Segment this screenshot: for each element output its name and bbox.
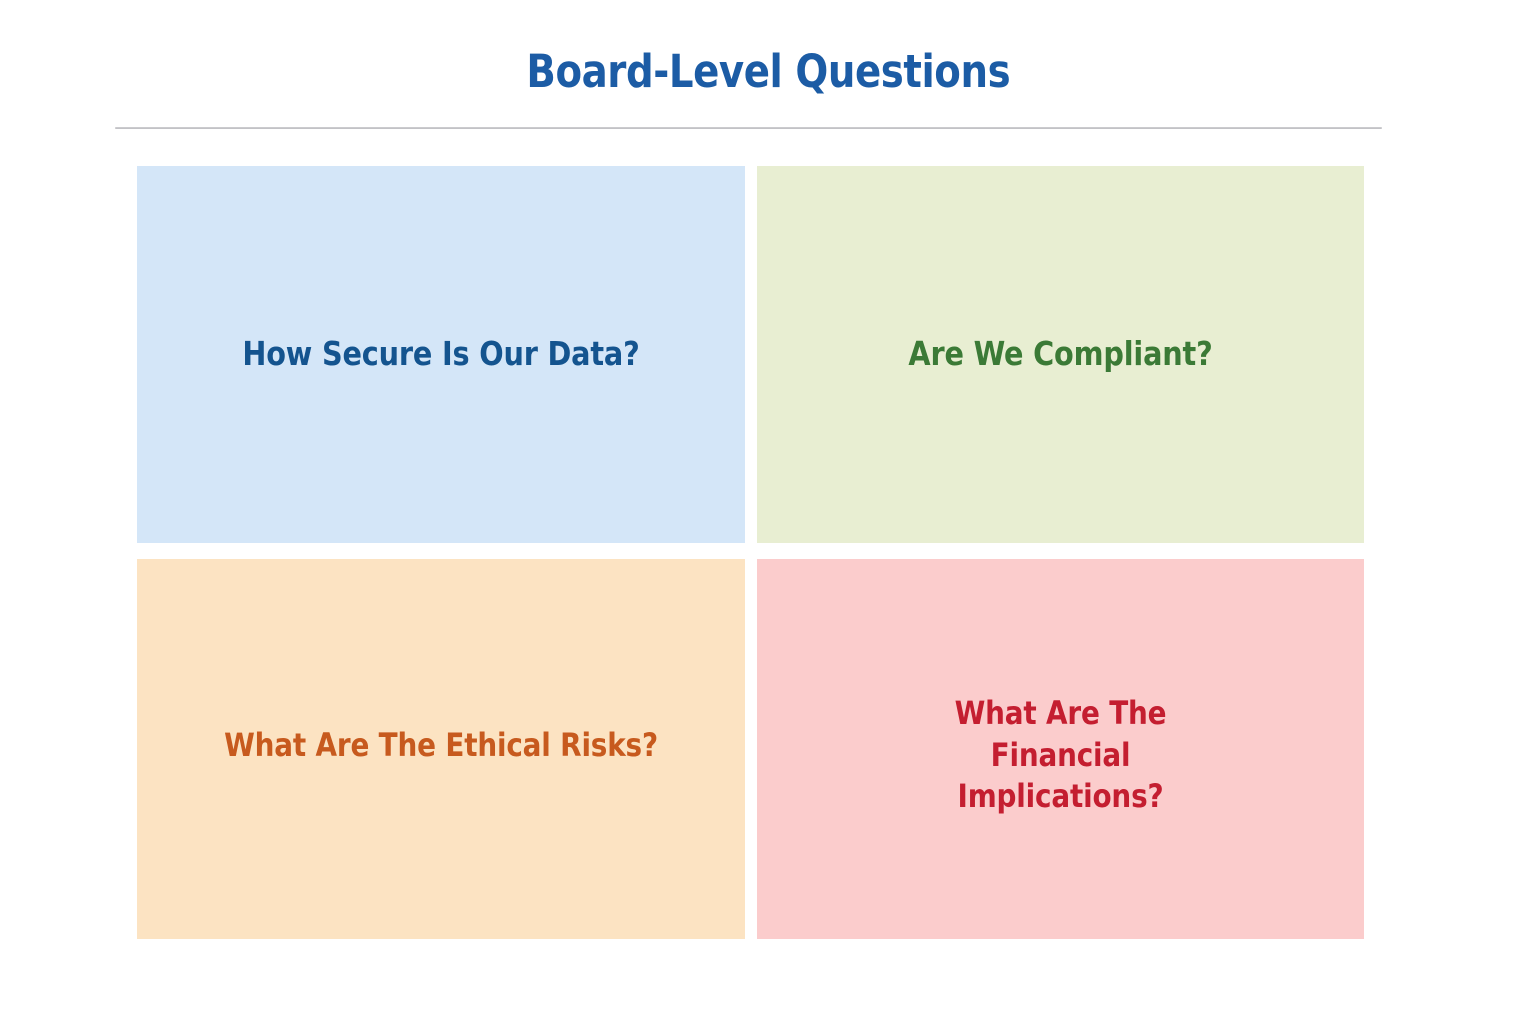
question-card-financial-implications[interactable]: What Are The Financial Implications? [757, 559, 1364, 939]
question-card-secure-data-label: How Secure Is Our Data? [177, 333, 706, 376]
page-title-text: Board-Level Questions [526, 48, 1010, 95]
page-title: Board-Level Questions [0, 48, 1536, 95]
question-card-secure-data[interactable]: How Secure Is Our Data? [137, 166, 745, 543]
question-card-ethical-risks[interactable]: What Are The Ethical Risks? [137, 559, 745, 939]
slide-canvas: Board-Level Questions How Secure Is Our … [0, 0, 1536, 1024]
question-card-compliant[interactable]: Are We Compliant? [757, 166, 1364, 543]
question-card-ethical-risks-label: What Are The Ethical Risks? [177, 725, 706, 767]
question-card-compliant-label: Are We Compliant? [796, 333, 1324, 376]
question-card-grid: How Secure Is Our Data? Are We Compliant… [137, 166, 1364, 939]
question-card-financial-implications-label: What Are The Financial Implications? [796, 693, 1324, 818]
title-divider [115, 127, 1382, 129]
